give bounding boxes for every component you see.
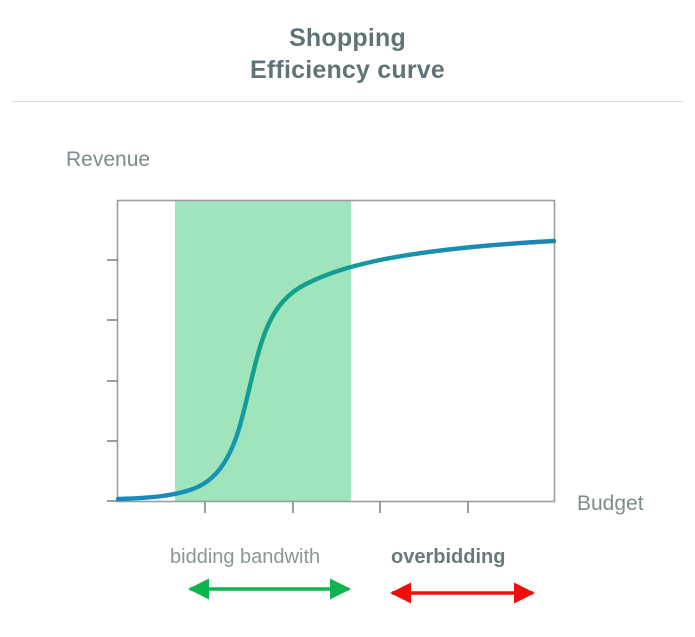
legend-label-bidding-bandwith: bidding bandwith xyxy=(170,546,320,569)
x-axis-ticks xyxy=(205,501,468,513)
bidding-bandwith-band xyxy=(175,201,351,501)
legend-label-overbidding: overbidding xyxy=(391,546,505,569)
chart-legend: bidding bandwith overbidding xyxy=(160,546,580,576)
y-axis-ticks xyxy=(107,260,118,501)
efficiency-curve-chart xyxy=(0,0,695,637)
chart-svg xyxy=(0,0,695,637)
slide-canvas: Shopping Efficiency curve Revenue Budget xyxy=(0,0,695,637)
